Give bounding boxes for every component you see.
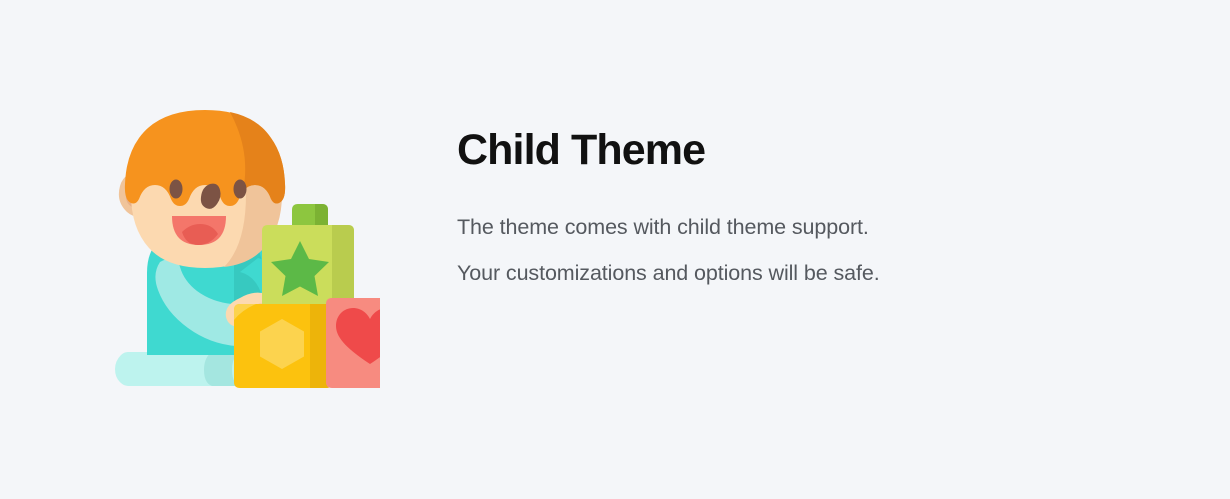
child-head	[119, 110, 285, 268]
toy-block-red-heart	[326, 298, 380, 388]
feature-text-block: Child Theme The theme comes with child t…	[457, 128, 1097, 296]
page-title: Child Theme	[457, 128, 1097, 174]
feature-description-line-2: Your customizations and options will be …	[457, 250, 1097, 296]
child-playing-with-blocks-illustration: Illustration of a child with orange hair…	[110, 110, 380, 390]
child-theme-feature-banner: Illustration of a child with orange hair…	[0, 0, 1230, 499]
feature-description-line-1: The theme comes with child theme support…	[457, 204, 1097, 250]
child-eye-right	[234, 180, 247, 199]
illustration-svg: Illustration of a child with orange hair…	[110, 110, 380, 390]
child-eye-left	[170, 180, 183, 199]
toy-block-yellow-hexagon	[234, 304, 332, 388]
feature-description: The theme comes with child theme support…	[457, 174, 1097, 296]
